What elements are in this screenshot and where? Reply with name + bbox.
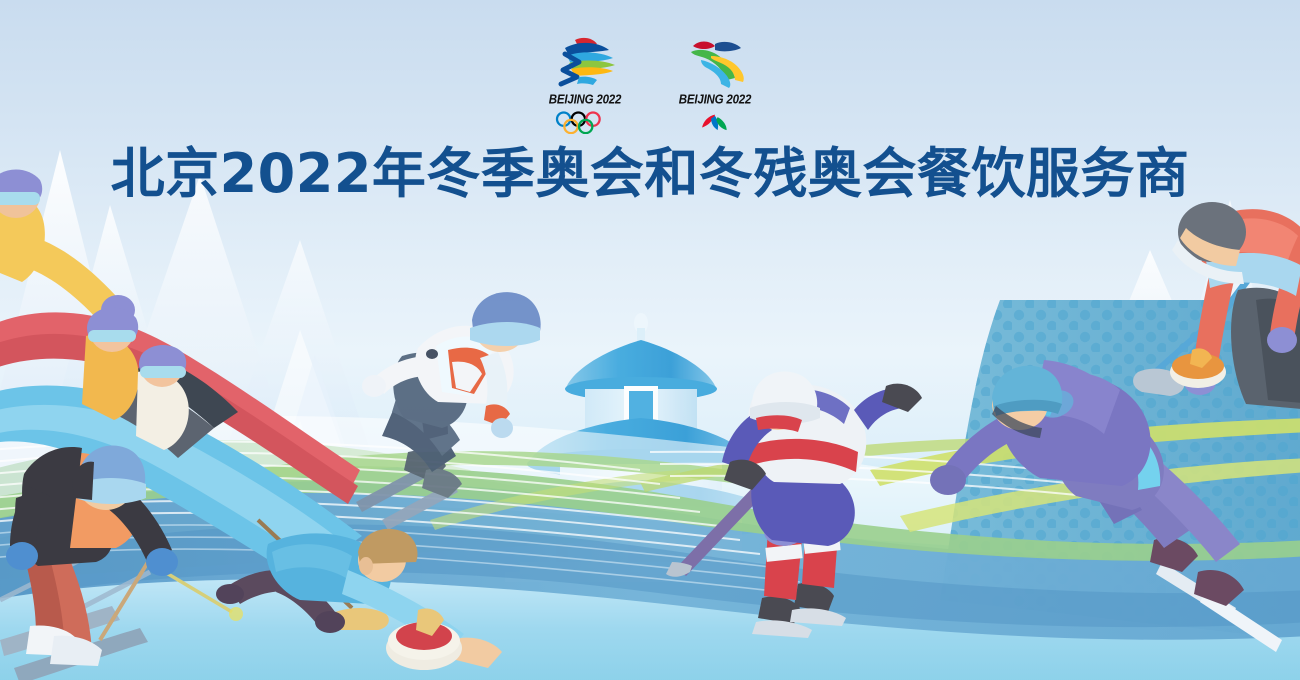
paralympic-emblem: BEIJING 2022 [665, 32, 765, 134]
agitos-icon [691, 112, 739, 134]
olympic-rings-icon [553, 111, 617, 134]
flying-paralympic-logo-icon [665, 32, 765, 92]
olympic-emblem: BEIJING 2022 [535, 32, 635, 134]
paralympic-wordmark: BEIJING 2022 [679, 93, 751, 106]
page-title: 北京2022年冬季奥会和冬残奥会餐饮服务商 [0, 146, 1300, 203]
beijing-2022-banner: BEIJING 2022 [0, 0, 1300, 680]
olympic-wordmark: BEIJING 2022 [549, 93, 621, 106]
emblem-row: BEIJING 2022 [0, 32, 1300, 134]
winter-dream-logo-icon [535, 32, 635, 92]
